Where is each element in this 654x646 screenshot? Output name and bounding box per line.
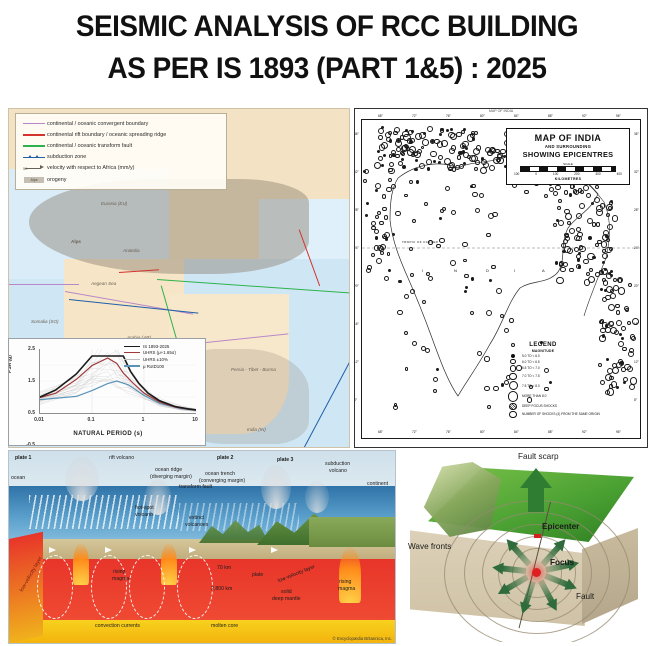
plate-diagram-label: rising	[113, 569, 125, 576]
magnitude-circle-icon	[504, 403, 522, 410]
latitude-tick: 16°	[634, 322, 639, 326]
india-magnitude-legend: LEGEND MAGNITUDE 5.0 TO < 6.06.0 TO < 6.…	[504, 342, 582, 418]
title-line-2: AS PER IS 1893 (PART 1&5) : 2025	[23, 48, 631, 90]
plate-tectonics-diagram: plate 1rift volcanoocean ridge(diverging…	[8, 450, 396, 644]
plate-diagram-label: (converging margin)	[199, 478, 245, 485]
longitude-tick: 72°	[412, 114, 417, 118]
earthquake-focus-diagram: Fault scarpEpicenterWave frontsFocusFaul…	[400, 450, 646, 642]
orogeny-swatch-icon: Alps	[21, 177, 47, 183]
plate-diagram-label: hot-spot	[135, 505, 154, 512]
legend-rows: 5.0 TO < 6.06.0 TO < 6.56.5 TO < 7.07.0 …	[504, 354, 582, 418]
plate-diagram-label: (diverging margin)	[150, 474, 192, 481]
convection-cell	[129, 555, 165, 619]
convection-cell	[91, 555, 127, 619]
longitude-tick: 76°	[446, 430, 451, 434]
latitude-tick: 8°	[634, 398, 637, 402]
scale-bar	[520, 166, 616, 172]
epicenter-marker	[534, 534, 541, 538]
india-title-line1: MAP OF INDIA	[510, 133, 626, 143]
plate-diagram-label: ocean ridge	[155, 467, 182, 474]
latitude-tick: 36°	[354, 132, 359, 136]
purple-line-icon	[21, 123, 47, 125]
chart-ytick: 1.5	[13, 378, 35, 384]
tropic-of-cancer-label: TROPIC OF CANCER	[402, 240, 438, 244]
legend-title: LEGEND	[504, 342, 582, 348]
legend-row-convergent: continental / oceanic convergent boundar…	[21, 118, 221, 129]
magnitude-legend-row: 6.5 TO < 7.0	[504, 365, 582, 371]
plate-diagram-label: extinct	[189, 515, 204, 522]
country-letter: A	[542, 268, 547, 273]
longitude-tick: 88°	[548, 114, 553, 118]
map-place-label: India (IN)	[247, 427, 266, 432]
chart-legend-label: UHRS ±10%	[143, 357, 168, 362]
latitude-tick: 20°	[354, 284, 359, 288]
longitude-tick: 68°	[378, 430, 383, 434]
longitude-tick: 76°	[446, 114, 451, 118]
convection-cell	[177, 555, 213, 619]
chart-legend-row: IS 1893-2025	[124, 343, 202, 350]
flow-arrow	[189, 547, 196, 553]
scale-number: 100	[514, 172, 519, 176]
magnitude-legend-label: NUMBER OF SHOCKS (4) FROM THE SAME ORIGI…	[522, 412, 600, 416]
longitude-tick: 92°	[582, 430, 587, 434]
plate-diagram-label: solid	[281, 589, 292, 596]
plate-diagram-label: molten core	[211, 623, 238, 630]
chart-legend-label: μ RotD100	[143, 364, 164, 369]
chart-legend-swatch	[124, 359, 140, 360]
magnitude-legend-row: NUMBER OF SHOCKS (4) FROM THE SAME ORIGI…	[504, 411, 582, 418]
country-letter: N	[454, 268, 459, 273]
longitude-tick: 88°	[548, 430, 553, 434]
map-place-label: Eurasia (EU)	[101, 201, 127, 206]
india-scale: SCALE 1000100200300400 KILOMETRES	[510, 162, 626, 181]
scale-numbers: 1000100200300400	[514, 172, 622, 176]
magnitude-legend-row: 5.0 TO < 6.0	[504, 354, 582, 358]
longitude-tick: 68°	[378, 114, 383, 118]
chart-legend-row: UHRS (μ+1.65σ)	[124, 350, 202, 357]
magnitude-legend-label: 6.0 TO < 6.5	[522, 360, 540, 364]
india-map-caption: MAP OF INDIA	[355, 109, 647, 113]
chart-ytick: 2.5	[13, 346, 35, 352]
magnitude-legend-label: 7.0 TO < 7.5	[522, 374, 540, 378]
country-letter: D	[486, 268, 491, 273]
map-place-label: Persia - Tibet - Burma	[231, 367, 276, 372]
poster-root: SEISMIC ANALYSIS OF RCC BUILDING AS PER …	[0, 0, 654, 646]
latitude-tick: 20°	[634, 284, 639, 288]
magnitude-legend-row: 7.0 TO < 7.5	[504, 373, 582, 381]
magnitude-legend-row: MORE THAN 8.0	[504, 391, 582, 401]
scale-number: 100	[553, 172, 558, 176]
plate-diagram-label: plate 3	[277, 457, 293, 464]
latitude-tick: 8°	[354, 398, 357, 402]
legend-label: velocity with respect to Africa (mm/y)	[47, 165, 134, 171]
chart-xtick: 10	[192, 417, 198, 423]
focus-diagram-label: Fault	[576, 592, 594, 601]
chart-legend-row: μ RotD100	[124, 363, 202, 370]
focus-diagram-label: Fault scarp	[518, 452, 559, 461]
magnitude-legend-row: DEEP FOCUS SHOCKS	[504, 403, 582, 410]
legend-label: orogeny	[47, 177, 66, 183]
rift-volcano-plume	[65, 457, 99, 501]
legend-row-velocity: 50 velocity with respect to Africa (mm/y…	[21, 163, 221, 174]
convection-cell	[37, 555, 73, 619]
magnitude-circle-icon	[504, 365, 522, 371]
longitude-tick: 84°	[514, 430, 519, 434]
india-map-title-box: MAP OF INDIA AND SURROUNDING SHOWING EPI…	[506, 128, 630, 185]
focus-diagram-label: Focus	[550, 558, 574, 567]
plate-diagram-label: volcano	[329, 468, 347, 475]
plate-diagram-label: deep mantle	[272, 596, 301, 603]
latitude-tick: 12°	[354, 360, 359, 364]
legend-row-subduction: subduction zone	[21, 152, 221, 163]
country-letter: I	[514, 268, 517, 273]
chart-ylabel: PSA (g)	[8, 355, 13, 373]
flow-arrow	[271, 547, 278, 553]
map-place-label: Alps	[71, 239, 81, 244]
chart-legend-label: UHRS (μ+1.65σ)	[143, 350, 176, 355]
magnitude-legend-label: 5.0 TO < 6.0	[522, 354, 540, 358]
britannica-copyright: © Encyclopædia Britannica, Inc.	[333, 636, 392, 641]
legend-row-rift: continental rift boundary / oceanic spre…	[21, 129, 221, 140]
volcano-plume	[305, 481, 329, 513]
scale-number: 300	[595, 172, 600, 176]
latitude-tick: 28°	[354, 208, 359, 212]
country-letter: I	[422, 268, 425, 273]
flow-arrow	[105, 547, 112, 553]
india-title-line2: AND SURROUNDING	[510, 144, 626, 149]
legend-row-orogeny: Alps orogeny	[21, 174, 221, 185]
legend-label: continental rift boundary / oceanic spre…	[47, 132, 166, 138]
chart-legend-swatch	[124, 365, 140, 366]
chart-legend-label: IS 1893-2025	[143, 344, 169, 349]
longitude-tick: 92°	[582, 114, 587, 118]
scale-number: 400	[617, 172, 622, 176]
magnitude-circle-icon	[504, 354, 522, 358]
longitude-tick: 84°	[514, 114, 519, 118]
map-place-label: Aegean Sea	[91, 281, 116, 286]
magnitude-legend-row: 6.0 TO < 6.5	[504, 359, 582, 364]
focus-diagram-label: Epicenter	[542, 522, 579, 531]
plate-diagram-label: plate 1	[15, 455, 31, 462]
page-title: SEISMIC ANALYSIS OF RCC BUILDING AS PER …	[0, 6, 654, 90]
plate-diagram-label: transform fault	[179, 484, 212, 491]
chart-legend-row: UHRS ±10%	[124, 356, 202, 363]
latitude-tick: 36°	[634, 132, 639, 136]
plate-diagram-label: 70 km	[217, 565, 231, 572]
subduction-volcano-plume	[261, 465, 291, 509]
scale-number: 200	[574, 172, 579, 176]
plate-diagram-label: ocean trench	[205, 471, 235, 478]
magnitude-legend-row: 7.5 TO < 8.0	[504, 381, 582, 390]
latitude-tick: 32°	[354, 170, 359, 174]
focus-point	[532, 568, 541, 577]
rising-magma-column-left	[73, 543, 89, 585]
magnitude-circle-icon	[504, 411, 522, 418]
india-map-frame: TROPIC OF CANCER INDIA MAP OF INDIA AND …	[361, 119, 641, 439]
plate-diagram-label: magma	[338, 586, 355, 593]
plate-diagram-label: volcano	[135, 512, 153, 519]
latitude-tick: 12°	[634, 360, 639, 364]
longitude-tick: 72°	[412, 430, 417, 434]
india-epicentre-map: MAP OF INDIA TROPIC OF CANCER INDIA MAP …	[354, 108, 648, 448]
latitude-tick: 24°	[634, 246, 639, 250]
surface-motion-arrow	[528, 486, 544, 512]
latitude-tick: 24°	[354, 246, 359, 250]
chart-legend: IS 1893-2025UHRS (μ+1.65σ)UHRS ±10%μ Rot…	[124, 343, 202, 369]
longitude-tick: 96°	[616, 114, 621, 118]
title-line-1: SEISMIC ANALYSIS OF RCC BUILDING	[23, 6, 631, 48]
chart-legend-swatch	[124, 352, 140, 353]
magnitude-legend-label: 6.5 TO < 7.0	[522, 366, 540, 370]
world-map-legend: continental / oceanic convergent boundar…	[15, 113, 227, 190]
magnitude-circle-icon	[504, 359, 522, 364]
magnitude-circle-icon	[504, 373, 522, 381]
subduction-zone-icon	[21, 155, 47, 159]
response-spectrum-chart: PSA (g) 2.51.50.5-0.5 0.010.1110 NATURAL…	[8, 338, 206, 446]
chart-xtick: 0.1	[88, 417, 95, 423]
scale-number: 0	[535, 172, 537, 176]
magnitude-legend-label: 7.5 TO < 8.0	[522, 384, 540, 388]
plate-diagram-label: rift volcano	[109, 455, 134, 462]
legend-row-transform: continental / oceanic transform fault	[21, 140, 221, 151]
plate-diagram-label: subduction	[325, 461, 350, 468]
convergent-boundary-line	[9, 284, 79, 285]
longitude-tick: 80°	[480, 114, 485, 118]
plate-diagram-label: 2,800 km	[211, 586, 232, 593]
plate-diagram-label: magma	[112, 576, 129, 583]
plate-diagram-label: plate 2	[217, 455, 233, 462]
rising-magma-column-right	[339, 547, 361, 603]
legend-label: continental / oceanic convergent boundar…	[47, 121, 148, 127]
map-place-label: Anatolia	[123, 248, 140, 253]
legend-label: subduction zone	[47, 154, 86, 160]
chart-legend-swatch	[124, 346, 140, 348]
continent-surface	[309, 517, 395, 547]
longitude-tick: 80°	[480, 430, 485, 434]
india-title-line3: SHOWING EPICENTRES	[510, 150, 626, 159]
legend-label: continental / oceanic transform fault	[47, 143, 132, 149]
red-line-icon	[21, 134, 47, 136]
chart-xtick: 1	[142, 417, 145, 423]
green-line-icon	[21, 145, 47, 147]
scale-unit: KILOMETRES	[510, 177, 626, 181]
magnitude-legend-label: DEEP FOCUS SHOCKS	[522, 404, 557, 408]
latitude-tick: 32°	[634, 170, 639, 174]
plate-diagram-label: plate	[252, 572, 263, 579]
legend-subtitle: MAGNITUDE	[504, 349, 582, 353]
plate-diagram-label: volcanoes	[185, 522, 208, 529]
surface-motion-arrowhead	[520, 468, 552, 488]
latitude-tick: 16°	[354, 322, 359, 326]
magnitude-legend-label: MORE THAN 8.0	[522, 394, 546, 398]
plate-diagram-label: ocean	[11, 475, 25, 482]
chart-ytick: 0.5	[13, 410, 35, 416]
latitude-tick: 28°	[634, 208, 639, 212]
chart-ytick: -0.5	[13, 442, 35, 446]
chart-xtick: 0.01	[34, 417, 44, 423]
magnitude-circle-icon	[504, 391, 522, 401]
focus-diagram-label: Wave fronts	[408, 542, 451, 551]
magnitude-circle-icon	[504, 381, 522, 390]
chart-xlabel: NATURAL PERIOD (s)	[9, 431, 206, 437]
plate-diagram-label: convection currents	[95, 623, 140, 630]
plate-diagram-label: rising	[339, 579, 351, 586]
longitude-tick: 96°	[616, 430, 621, 434]
map-place-label: Somalia (SO)	[31, 319, 59, 324]
plate-diagram-label: continent	[367, 481, 388, 488]
flow-arrow	[49, 547, 56, 553]
velocity-arrow-icon: 50	[21, 166, 47, 171]
